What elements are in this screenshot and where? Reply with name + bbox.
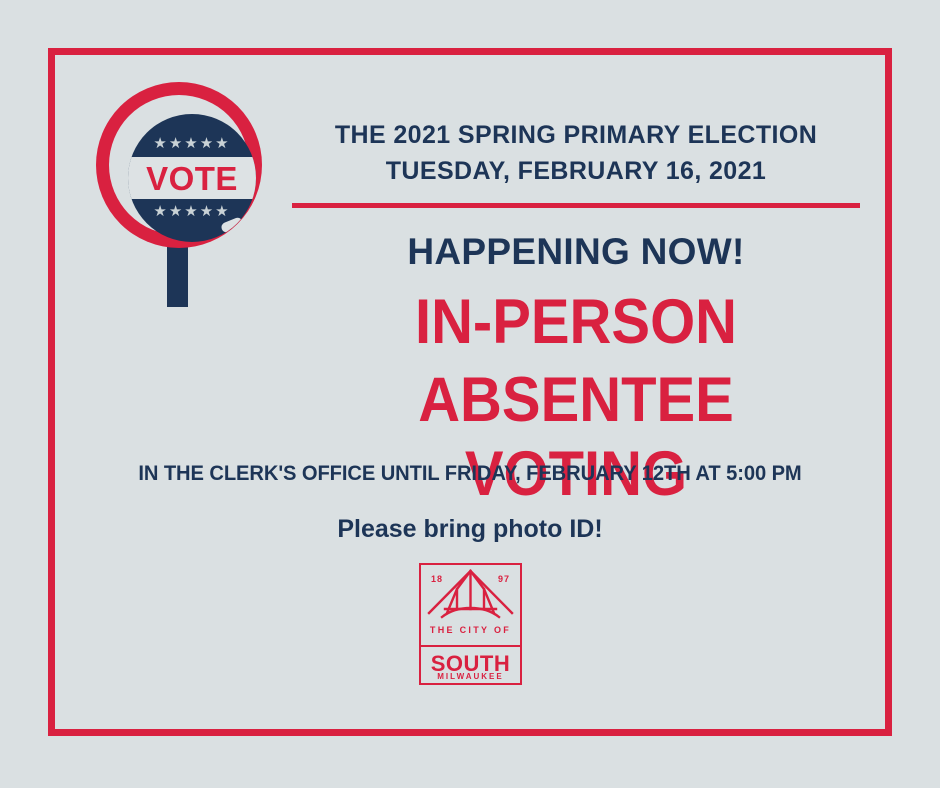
- badge-swoosh-icon: [146, 218, 224, 242]
- details-photo-id: Please bring photo ID!: [50, 515, 890, 544]
- poster-text-column: THE 2021 SPRING PRIMARY ELECTION TUESDAY…: [290, 118, 862, 512]
- headline-eyebrow: HAPPENING NOW!: [290, 232, 862, 273]
- header-line-2: TUESDAY, FEBRUARY 16, 2021: [290, 154, 862, 190]
- logo-city-of-text: THE CITY OF: [419, 625, 522, 635]
- header-line-1: THE 2021 SPRING PRIMARY ELECTION: [290, 118, 862, 154]
- headline-line-1: IN-PERSON: [313, 285, 839, 359]
- badge-inner-gap: ★★★★★ VOTE ★★★★★: [109, 95, 249, 235]
- header-divider: [292, 203, 860, 208]
- logo-year-left: 18: [431, 574, 443, 584]
- vote-badge-icon: ★★★★★ VOTE ★★★★★: [96, 82, 278, 307]
- headline-line-2: ABSENTEE VOTING: [313, 363, 839, 512]
- logo-year-right: 97: [498, 574, 510, 584]
- election-notice-poster: ★★★★★ VOTE ★★★★★ THE 2021 SPRING PRIMARY…: [0, 0, 940, 788]
- city-of-south-milwaukee-logo: 18 97 THE CITY OF SOUTH MILWAUKEE: [419, 563, 522, 685]
- badge-navy-disc: ★★★★★ VOTE ★★★★★: [128, 114, 256, 242]
- details-location-time: IN THE CLERK'S OFFICE UNTIL FRIDAY, FEBR…: [67, 462, 873, 486]
- logo-city-subname: MILWAUKEE: [419, 673, 522, 681]
- badge-stars-top: ★★★★★: [128, 136, 256, 151]
- badge-vote-band: VOTE: [128, 157, 256, 199]
- badge-vote-label: VOTE: [146, 162, 238, 195]
- badge-outer-ring: ★★★★★ VOTE ★★★★★: [96, 82, 262, 248]
